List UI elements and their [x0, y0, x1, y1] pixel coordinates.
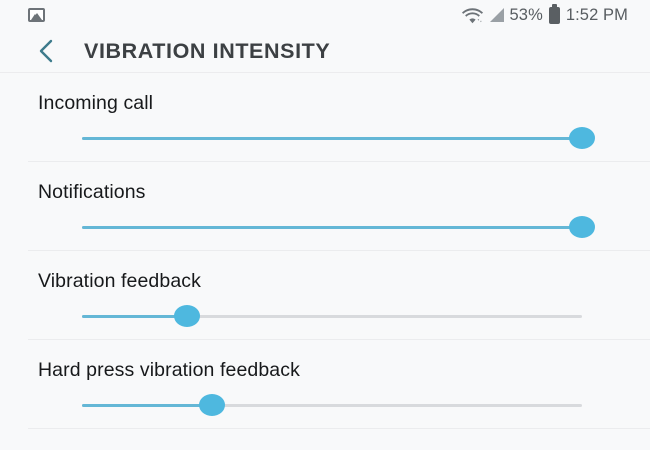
slider-thumb[interactable]: [199, 394, 225, 416]
clock-label: 1:52 PM: [566, 7, 628, 24]
slider-notifications[interactable]: [82, 204, 582, 250]
slider-track-fill: [82, 315, 187, 318]
cellular-signal-icon: [488, 7, 505, 23]
setting-row-notifications: Notifications: [0, 162, 650, 250]
setting-label-vibration-feedback: Vibration feedback: [38, 251, 650, 293]
slider-track[interactable]: [82, 315, 582, 318]
setting-label-notifications: Notifications: [38, 162, 650, 204]
slider-thumb[interactable]: [174, 305, 200, 327]
slider-track[interactable]: [82, 137, 582, 140]
slider-vibration-feedback[interactable]: [82, 293, 582, 339]
setting-row-incoming-call: Incoming call: [0, 73, 650, 161]
setting-row-vibration-feedback: Vibration feedback: [0, 251, 650, 339]
setting-label-incoming-call: Incoming call: [38, 73, 650, 115]
slider-thumb[interactable]: [569, 216, 595, 238]
status-bar-right: 53% 1:52 PM: [462, 7, 628, 24]
slider-track[interactable]: [82, 226, 582, 229]
app-bar: VIBRATION INTENSITY: [0, 30, 650, 72]
page-title: VIBRATION INTENSITY: [84, 39, 330, 64]
image-notification-icon: [28, 8, 45, 22]
battery-percent-label: 53%: [510, 7, 543, 24]
status-bar-left: [28, 8, 45, 22]
slider-incoming-call[interactable]: [82, 115, 582, 161]
vibration-intensity-list: Incoming call Notifications Vibration: [0, 73, 650, 429]
slider-track-fill: [82, 404, 212, 407]
back-button[interactable]: [30, 35, 62, 67]
row-divider: [28, 428, 650, 429]
slider-track[interactable]: [82, 404, 582, 407]
status-bar: 53% 1:52 PM: [0, 0, 650, 30]
setting-row-hard-press-vibration-feedback: Hard press vibration feedback: [0, 340, 650, 428]
battery-icon: [549, 7, 560, 24]
slider-track-fill: [82, 137, 582, 140]
slider-thumb[interactable]: [569, 127, 595, 149]
slider-track-fill: [82, 226, 582, 229]
slider-hard-press-vibration-feedback[interactable]: [82, 382, 582, 428]
wifi-icon: [462, 7, 483, 24]
setting-label-hard-press-vibration-feedback: Hard press vibration feedback: [38, 340, 650, 382]
back-chevron-icon: [36, 38, 56, 64]
phone-screen: 53% 1:52 PM VIBRATION INTENSITY Incoming…: [0, 0, 650, 450]
